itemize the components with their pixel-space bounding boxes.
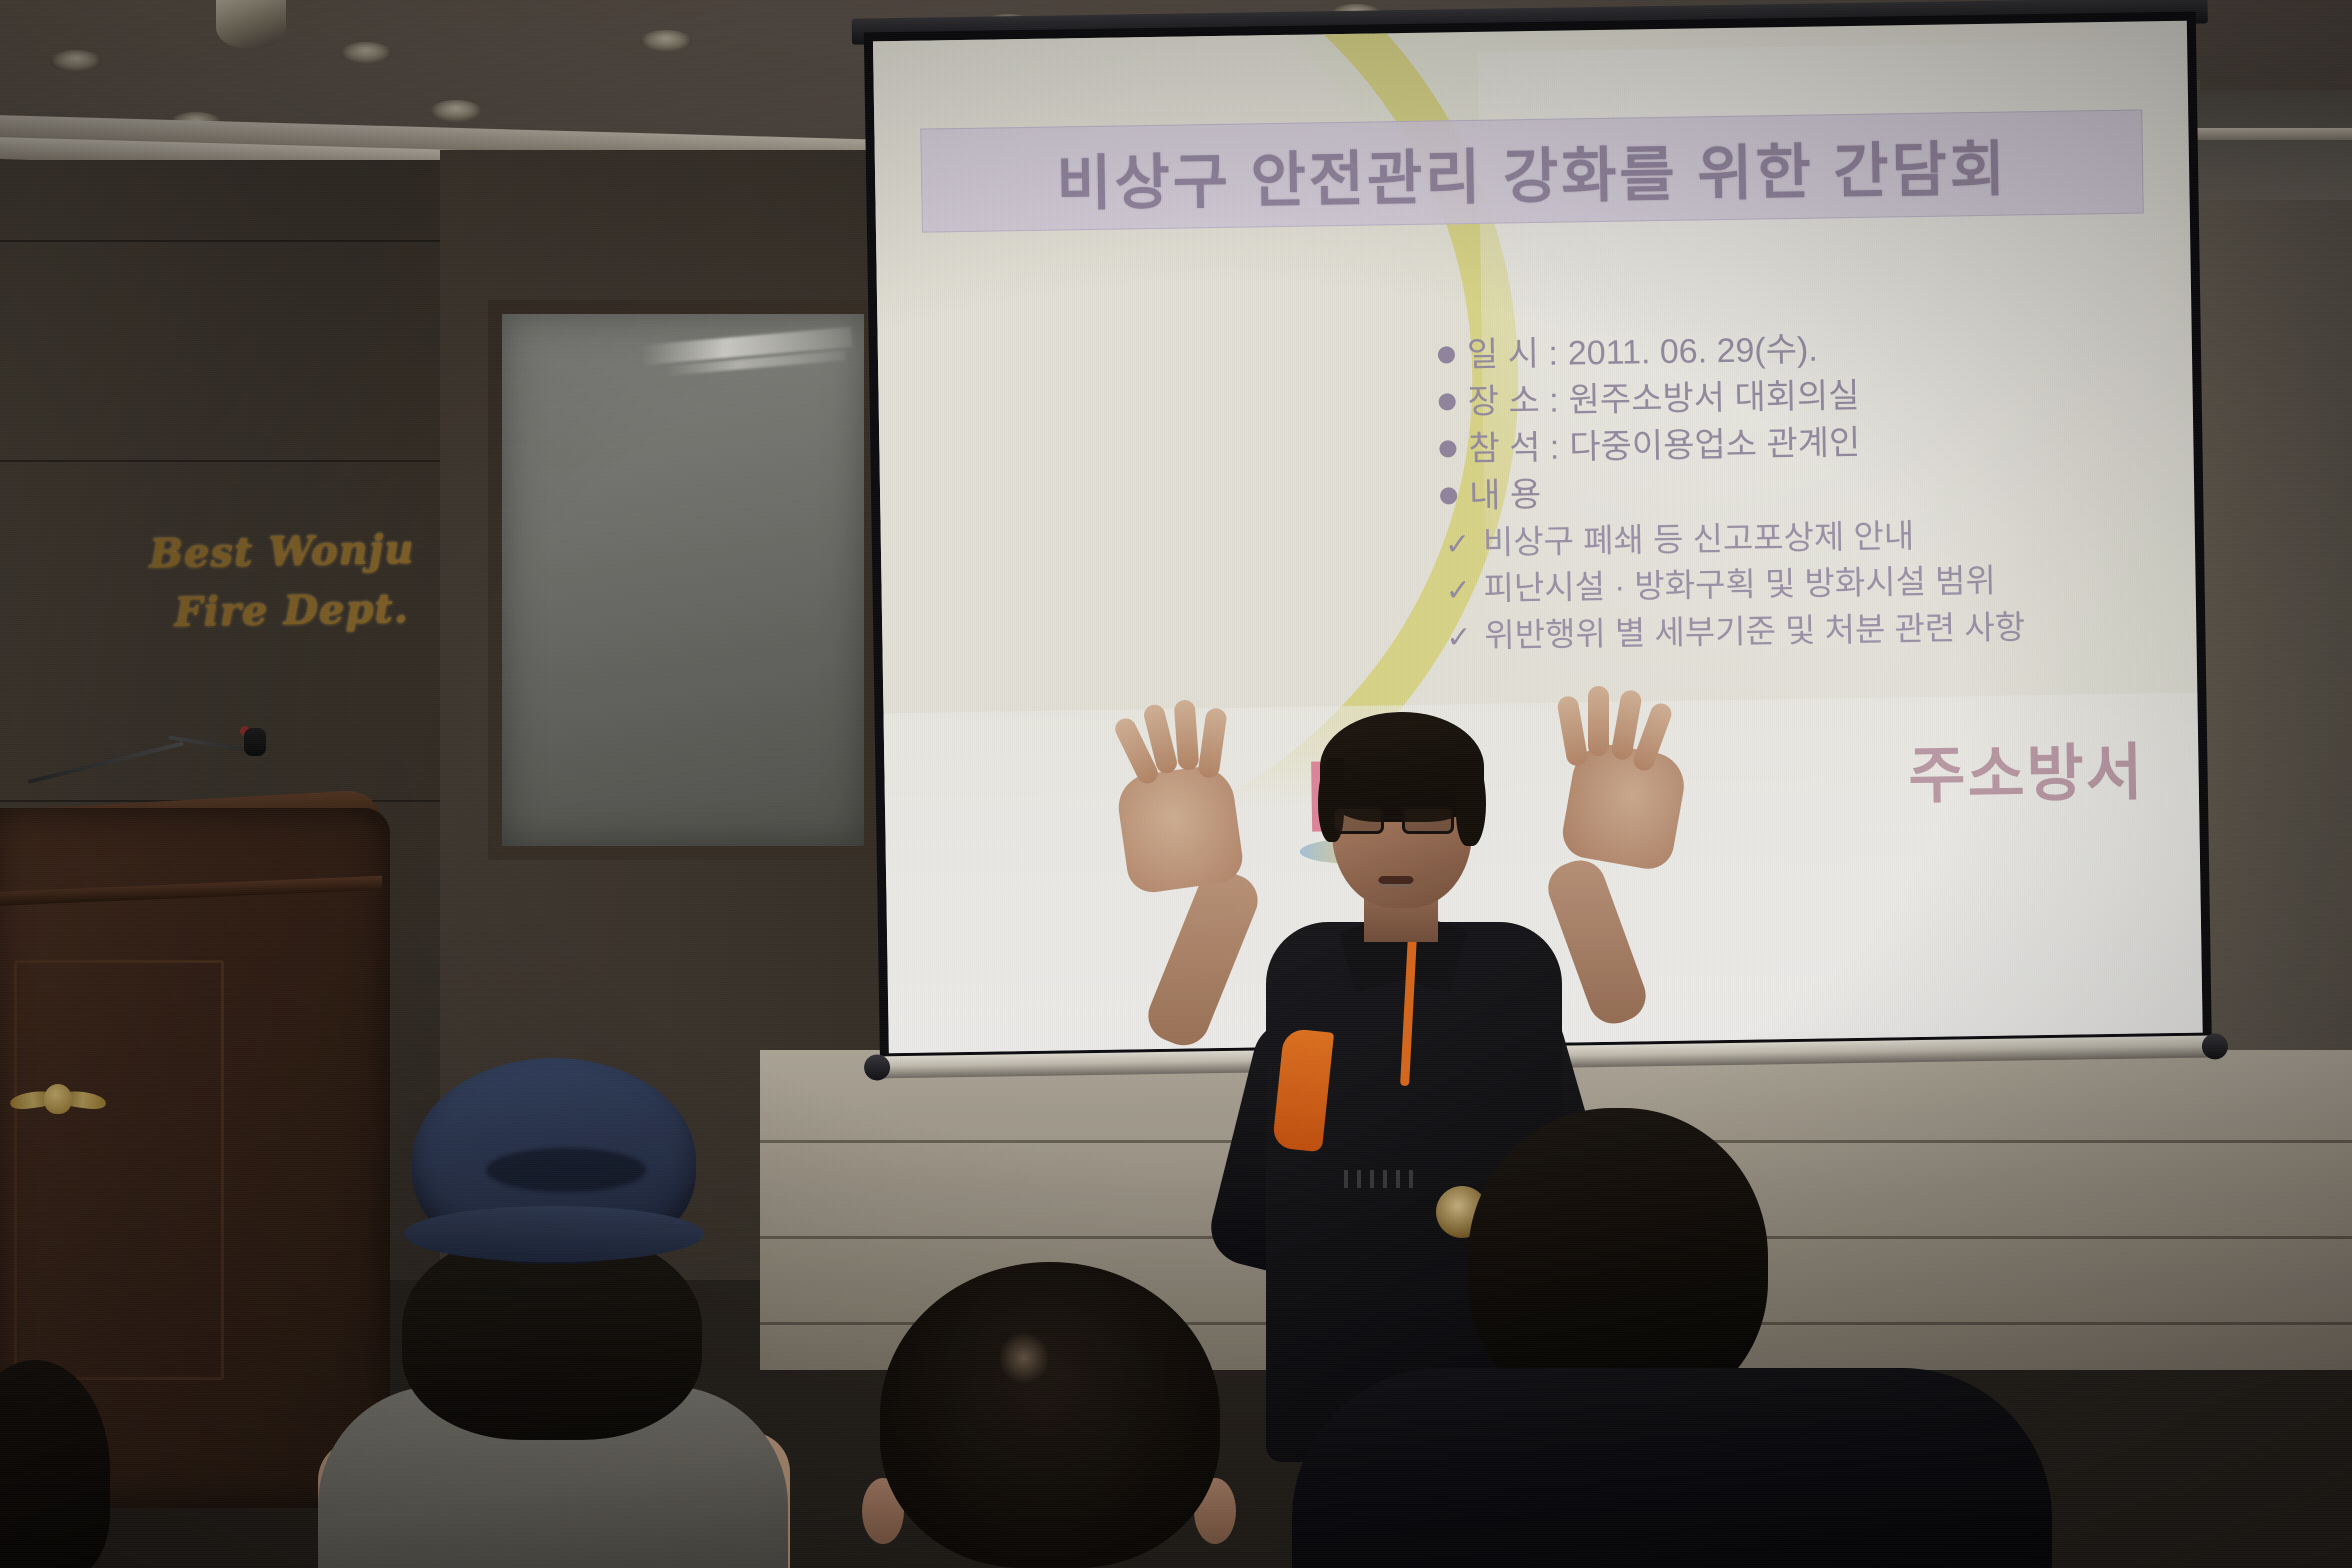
bullet-dot-icon xyxy=(1438,346,1455,363)
slide-title: 비상구 안전관리 강화를 위한 간담회 xyxy=(1056,120,2009,222)
glasses-bridge xyxy=(1384,816,1402,819)
slide-footer-org: 주소방서 xyxy=(1908,722,2146,816)
navy-cap-fold xyxy=(486,1148,646,1192)
presentation-room-photo: Best Wonju Fire Dept. 비상구 안전관리 강화를 위한 간담… xyxy=(0,0,2352,1568)
bullet-label: 참 석 : xyxy=(1468,424,1560,472)
microphone-icon xyxy=(244,728,266,756)
podium-front-panel xyxy=(14,960,224,1380)
navy-cap-brim xyxy=(404,1206,704,1262)
projector-mount-icon xyxy=(216,0,286,48)
bullet-value: 원주소방서 대회의실 xyxy=(1568,373,1860,424)
bullet-dot-icon xyxy=(1439,440,1456,457)
subitem-text: 비상구 폐쇄 등 신고포상제 안내 xyxy=(1483,513,1915,567)
finger xyxy=(1174,699,1200,770)
subitem-text: 위반행위 별 세부기준 및 처분 관련 사항 xyxy=(1484,605,2025,660)
wall-plaque: Best Wonju Fire Dept. xyxy=(149,525,441,660)
glasses-icon xyxy=(1332,806,1384,834)
checkmark-icon: ✓ xyxy=(1445,570,1476,613)
downlight-icon xyxy=(50,50,102,72)
presenter-hand-left xyxy=(1114,763,1245,896)
frosted-glass-door[interactable] xyxy=(488,300,878,860)
downlight-icon xyxy=(430,100,482,122)
finger xyxy=(1588,686,1609,756)
slide-body: 일 시 : 2011. 06. 29(수). 장 소 : 원주소방서 대회의실 … xyxy=(1438,322,2143,661)
bullet-value: 다중이용업소 관계인 xyxy=(1569,420,1861,471)
right-wall xyxy=(2190,90,2352,1190)
plaque-line-2: Fire Dept. xyxy=(174,584,441,636)
checkmark-icon: ✓ xyxy=(1445,524,1476,567)
bullet-dot-icon xyxy=(1439,393,1456,410)
checkmark-icon: ✓ xyxy=(1446,617,1477,660)
glasses-icon xyxy=(1402,806,1454,834)
bullet-label: 장 소 : xyxy=(1467,378,1559,426)
slide-title-band: 비상구 안전관리 강화를 위한 간담회 xyxy=(920,109,2143,232)
subitem-text: 피난시설 · 방화구획 및 방화시설 범위 xyxy=(1483,558,1996,613)
right-wall-rail xyxy=(2190,128,2352,140)
right-wall-top-band xyxy=(2190,90,2352,200)
emblem-core xyxy=(44,1084,72,1114)
bullet-dot-icon xyxy=(1440,487,1457,504)
presenter-mouth xyxy=(1378,876,1414,887)
uniform-chest-marking xyxy=(1344,1170,1414,1188)
fire-service-emblem-icon xyxy=(10,1078,106,1130)
finger xyxy=(1197,707,1228,779)
audience-hair-crown xyxy=(1000,1330,1048,1386)
bullet-label: 내 용 xyxy=(1469,472,1542,520)
audience-member-center-head xyxy=(880,1262,1220,1568)
downlight-icon xyxy=(640,30,692,52)
finger xyxy=(1556,695,1589,768)
bullet-label: 일 시 : xyxy=(1467,331,1559,379)
bullet-value: 2011. 06. 29(수). xyxy=(1567,327,1818,378)
downlight-icon xyxy=(340,42,392,64)
audience-member-right-body xyxy=(1292,1368,2052,1568)
plaque-line-1: Best Wonju xyxy=(149,525,440,577)
wall-seam xyxy=(0,460,480,462)
wall-seam xyxy=(0,240,480,242)
slide-subitem: ✓ 위반행위 별 세부기준 및 처분 관련 사항 xyxy=(1442,603,2143,661)
